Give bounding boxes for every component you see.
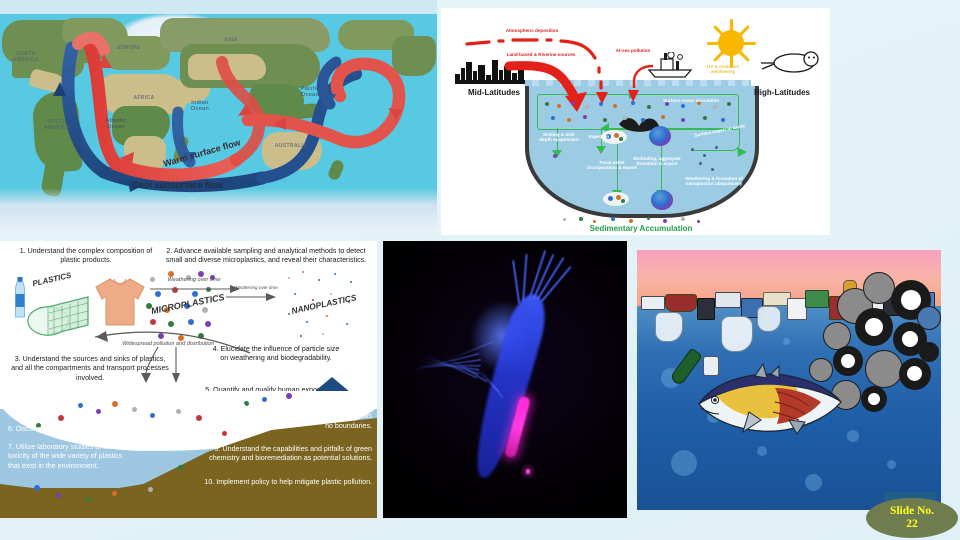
sun-icon bbox=[718, 30, 744, 56]
seal-icon bbox=[760, 50, 822, 76]
microplastics-research-priorities-infographic: 1. Understand the complex composition of… bbox=[0, 241, 377, 518]
label-nanoplastics-stage: NANOPLASTICS bbox=[286, 291, 363, 318]
ocean-conveyor-map: Warm surface flow Cool subsurface flow A… bbox=[0, 0, 437, 232]
city-skyline-icon bbox=[455, 58, 527, 84]
info-item-7: 7. Utilize laboratory studies to test th… bbox=[8, 443, 136, 471]
tuna-plastic-pollution-illustration bbox=[637, 250, 941, 510]
label-fecal-pellet-export: Fecal pellet incorporation & export bbox=[585, 160, 639, 171]
info-item-3: 3. Understand the sources and sinks of p… bbox=[10, 355, 170, 383]
map-label-europe: EUROPE bbox=[112, 46, 146, 52]
plastic-cycle-diagram: Atmospheric deposition Land-based & Rive… bbox=[441, 8, 830, 235]
label-mid-latitudes: Mid-Latitudes bbox=[449, 88, 539, 97]
info-item-6: 6. Discover the complexities of interact… bbox=[8, 425, 258, 434]
map-label-atlantic-ocean: AtlanticOcean bbox=[96, 118, 136, 131]
tuna-fish bbox=[693, 362, 843, 438]
label-weathering-over-time-2: Weathering over time bbox=[228, 285, 284, 291]
label-sedimentary-accumulation: Sedimentary Accumulation bbox=[551, 224, 731, 233]
ingested-microplastic-particle bbox=[526, 469, 530, 474]
label-land-based-riverine: Land-based & Riverine sources bbox=[503, 52, 579, 57]
label-uv-oxidative-weathering: UV & oxidative weathering bbox=[699, 64, 747, 75]
map-label-africa: AFRICA bbox=[122, 96, 166, 102]
label-atmospheric-deposition: Atmospheric deposition bbox=[477, 28, 587, 33]
map-label-cool-flow: Cool subsurface flow bbox=[132, 180, 223, 190]
map-label-indian-ocean: IndianOcean bbox=[180, 100, 220, 113]
label-weathering-nanoplastics: Weathering & formation of nanoplastics u… bbox=[685, 176, 743, 187]
label-biofouling-aggregate-export: Biofouling, aggregate formation & export bbox=[633, 156, 681, 167]
info-item-8: 8. Recognize that microplastic pollution… bbox=[240, 403, 372, 431]
slide-number-text: Slide No.22 bbox=[890, 505, 934, 531]
zooplankton-fluorescence-image bbox=[383, 241, 627, 518]
map-label-south-america: SOUTHAMERICA bbox=[34, 120, 80, 132]
label-weathering-over-time-1: Weathering over time bbox=[152, 277, 236, 284]
label-surface-ocean-circulation: Surface ocean circulation bbox=[643, 98, 739, 103]
map-label-north-america: NORTHAMERICA bbox=[4, 52, 48, 64]
ship-icon bbox=[647, 52, 693, 78]
slide-number-badge[interactable]: Slide No.22 bbox=[866, 498, 958, 538]
biofouling-aggregate bbox=[649, 126, 671, 146]
info-item-2: 2. Advance available sampling and analyt… bbox=[164, 247, 368, 266]
label-widespread-pollution: Widespread pollution and distribution bbox=[104, 341, 232, 348]
map-label-australia: AUSTRALIA bbox=[266, 144, 316, 150]
slide-canvas: Warm surface flow Cool subsurface flow A… bbox=[0, 0, 960, 540]
label-sinking-mid-depth: Sinking & mid-depth suspension bbox=[537, 132, 581, 143]
info-item-1: 1. Understand the complex composition of… bbox=[12, 247, 160, 266]
label-high-latitudes: High-Latitudes bbox=[737, 88, 827, 97]
conveyor-belt-flows bbox=[0, 0, 437, 232]
info-item-9: 9. Understand the capabilities and pitfa… bbox=[186, 445, 372, 464]
map-label-pacific-ocean: PacificOcean bbox=[288, 86, 332, 99]
info-item-10: 10. Implement policy to help mitigate pl… bbox=[186, 478, 372, 487]
biofouling-aggregate-exported bbox=[651, 190, 673, 210]
label-ingestion: Ingestion bbox=[581, 134, 617, 139]
clothing-icon bbox=[92, 275, 148, 327]
map-label-asia: ASIA bbox=[216, 38, 246, 44]
label-at-sea-pollution: At-sea pollution bbox=[609, 48, 657, 53]
fishing-net-icon bbox=[26, 285, 98, 339]
